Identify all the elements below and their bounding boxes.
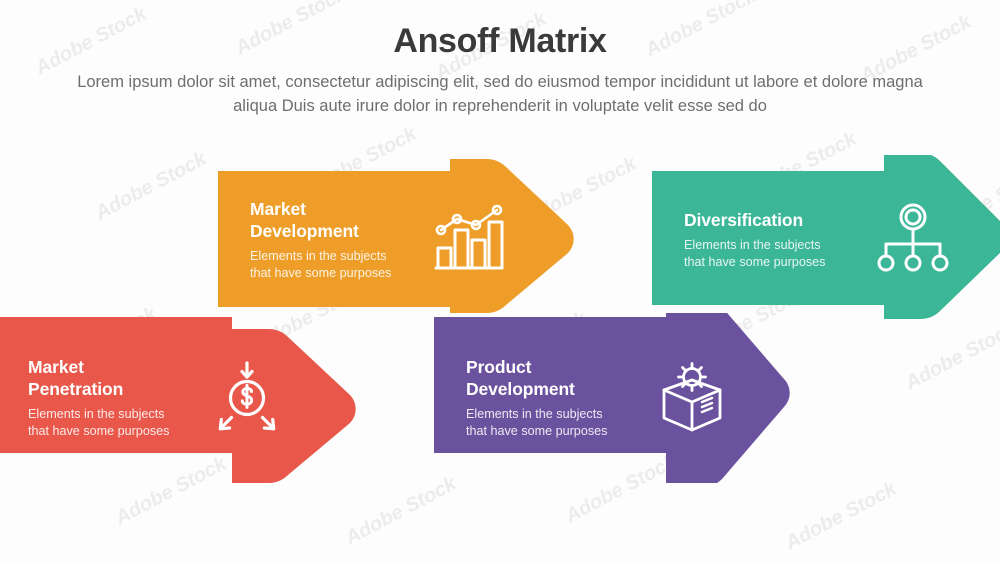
- arrow-diversification[interactable]: Diversification Elements in the subjects…: [652, 155, 1000, 325]
- dollar-circle-inward-arrows-icon: [208, 358, 294, 438]
- watermark-tile: Adobe Stock: [902, 318, 1000, 396]
- adobe-stock-watermark: Adobe Stock | #626418031: [0, 527, 2, 557]
- watermark-tile: Adobe Stock: [342, 473, 461, 551]
- bar-chart-growth-icon: [430, 200, 516, 280]
- infographic-canvas: Adobe Stock Adobe Stock Adobe Stock Adob…: [0, 0, 1000, 563]
- header: Ansoff Matrix Lorem ipsum dolor sit amet…: [0, 0, 1000, 119]
- hierarchy-network-icon: [874, 200, 960, 280]
- arrow-text-block: Product Development Elements in the subj…: [466, 313, 651, 483]
- arrow-text-block: Market Development Elements in the subje…: [250, 155, 435, 325]
- arrow-description: Elements in the subjects that have some …: [684, 237, 825, 271]
- arrow-market-development[interactable]: Market Development Elements in the subje…: [218, 155, 578, 325]
- arrow-title: Market Penetration: [28, 356, 169, 401]
- box-gear-icon: [652, 358, 738, 438]
- arrow-product-development[interactable]: Product Development Elements in the subj…: [434, 313, 794, 483]
- page-subtitle: Lorem ipsum dolor sit amet, consectetur …: [60, 71, 940, 119]
- arrow-market-penetration[interactable]: Market Penetration Elements in the subje…: [0, 313, 360, 483]
- arrow-text-block: Market Penetration Elements in the subje…: [28, 313, 208, 483]
- watermark-tile: Adobe Stock: [92, 148, 211, 226]
- arrow-description: Elements in the subjects that have some …: [250, 248, 391, 282]
- arrow-text-block: Diversification Elements in the subjects…: [684, 155, 869, 325]
- arrow-description: Elements in the subjects that have some …: [466, 406, 607, 440]
- page-title: Ansoff Matrix: [0, 22, 1000, 61]
- arrow-title: Diversification: [684, 209, 825, 231]
- arrow-description: Elements in the subjects that have some …: [28, 406, 169, 440]
- arrow-title: Market Development: [250, 198, 391, 243]
- watermark-tile: Adobe Stock: [782, 478, 901, 556]
- arrow-title: Product Development: [466, 356, 607, 401]
